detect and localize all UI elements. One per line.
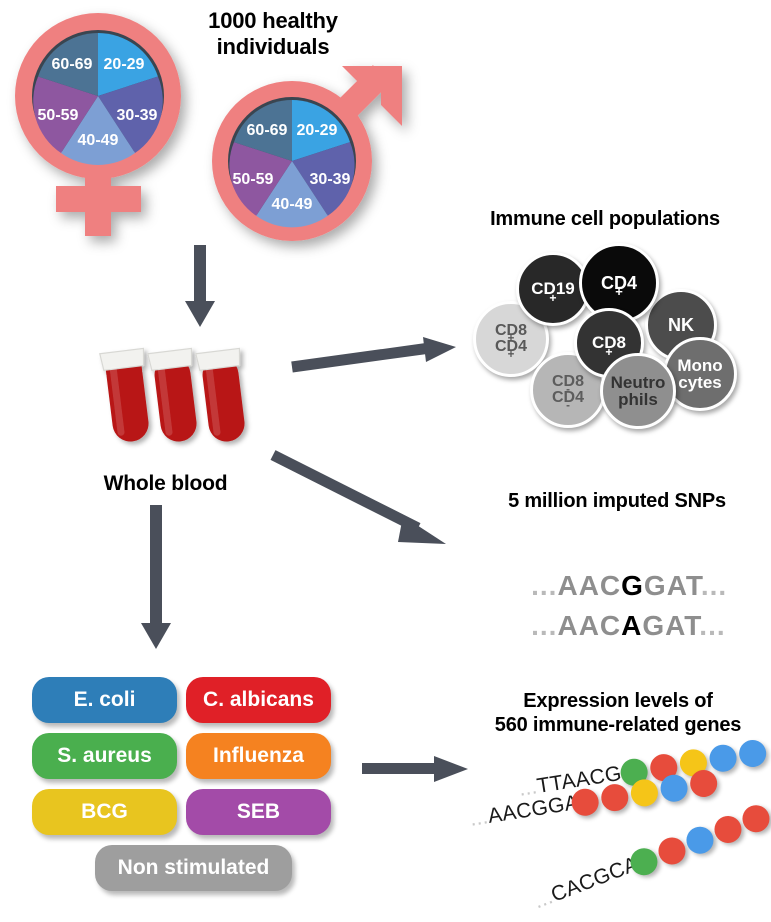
whole-blood-label: Whole blood	[78, 472, 253, 497]
blood-tubes	[95, 335, 265, 460]
snp-prefix: ...	[531, 610, 557, 641]
gene-bead	[710, 812, 745, 847]
stimulation-pill-label: C. albicans	[203, 688, 314, 712]
immune-cell-label-line2: CD4+	[495, 339, 527, 355]
gene-bead	[682, 822, 717, 857]
immune-cell-label: NK	[668, 316, 694, 334]
male-slice-label-30-39: 30-39	[310, 171, 351, 188]
gene-bead	[659, 772, 690, 803]
immune-cell-label-line2: phils	[611, 391, 666, 408]
stimulation-pill-label: S. aureus	[57, 744, 152, 768]
arrow-blood-to-stimulation	[135, 505, 177, 650]
snp-suffix: ...	[699, 610, 725, 641]
stimulation-pill-non-stimulated[interactable]: Non stimulated	[95, 845, 292, 891]
stimulation-pill-c-albicans[interactable]: C. albicans	[186, 677, 331, 723]
male-slice-label-60-69: 60-69	[247, 122, 288, 139]
arrow-cohort-to-blood	[180, 245, 220, 330]
immune-cell-label: CD8+	[592, 334, 626, 351]
arrow-stimulation-to-expression	[362, 755, 472, 785]
male-slice-label-20-29: 20-29	[297, 122, 338, 139]
gene-bead	[688, 768, 719, 799]
stimulation-pill-label: E. coli	[74, 688, 136, 712]
immune-cell-label-line2: cytes	[677, 374, 722, 391]
cohort-heading-line1: 1000 healthy	[178, 8, 368, 34]
snp-before: AAC	[557, 610, 621, 641]
figure-canvas: 1000 healthy individuals	[0, 0, 771, 922]
stimulation-pill-label: BCG	[81, 800, 128, 824]
blood-tube-3	[196, 348, 251, 444]
stimulation-pill-label: SEB	[237, 800, 280, 824]
immune-cell-label: CD4+	[601, 274, 637, 292]
immune-heading: Immune cell populations	[450, 208, 760, 232]
immune-cell-nk: NK	[645, 289, 717, 361]
expression-heading: Expression levels of 560 immune-related …	[468, 690, 768, 737]
snp-after: GAT	[642, 610, 699, 641]
expression-heading-line2: 560 immune-related genes	[468, 714, 768, 738]
immune-cell-cd4pos: CD4+	[579, 243, 659, 323]
female-slice-label-40-49: 40-49	[78, 132, 119, 149]
expression-heading-line1: Expression levels of	[468, 690, 768, 714]
snp-sequence-row-2: ...AACAGAT...	[496, 578, 726, 674]
blood-tube-1	[100, 348, 155, 444]
immune-cell-cd19pos: CD19+	[516, 252, 590, 326]
gene-bead	[737, 738, 768, 769]
gene-bead	[738, 801, 771, 836]
immune-cell-label: CD19+	[531, 280, 574, 297]
cohort-heading: 1000 healthy individuals	[178, 8, 368, 60]
gene-bead	[629, 777, 660, 808]
arrow-blood-to-snps	[270, 450, 465, 555]
cohort-heading-line2: individuals	[178, 34, 368, 60]
gene-bead	[654, 833, 689, 868]
male-slice-label-50-59: 50-59	[233, 171, 274, 188]
immune-cell-label-line1: Neutro	[611, 374, 666, 391]
stimulation-pill-bcg[interactable]: BCG	[32, 789, 177, 835]
female-slice-label-30-39: 30-39	[117, 107, 158, 124]
arrow-blood-to-immune	[290, 335, 465, 380]
blood-tube-2	[148, 348, 203, 444]
immune-cell-label-line1: Mono	[677, 357, 722, 374]
female-symbol: 20-29 30-39 40-49 50-59 60-69	[4, 8, 204, 248]
immune-cell-neutrophils: Neutro phils	[600, 353, 676, 429]
immune-cell-label-line1: CD8-	[552, 374, 584, 390]
female-slice-label-60-69: 60-69	[52, 56, 93, 73]
stimulation-pill-seb[interactable]: SEB	[186, 789, 331, 835]
female-slice-label-20-29: 20-29	[104, 56, 145, 73]
stimulation-pill-label: Influenza	[213, 744, 304, 768]
immune-cell-cd8neg-cd4neg: CD8- CD4-	[530, 352, 606, 428]
female-slice-label-50-59: 50-59	[38, 107, 79, 124]
stimulation-pill-label: Non stimulated	[118, 856, 270, 880]
stimulation-pill-s-aureus[interactable]: S. aureus	[32, 733, 177, 779]
immune-cell-label-line2: CD4-	[552, 390, 584, 406]
immune-cell-label-line1: CD8+	[495, 323, 527, 339]
immune-cell-cd8pos: CD8+	[574, 308, 644, 378]
male-slice-label-40-49: 40-49	[272, 196, 313, 213]
immune-cell-cd8pos-cd4pos: CD8+ CD4+	[473, 301, 549, 377]
immune-cell-monocytes: Mono cytes	[663, 337, 737, 411]
male-symbol: 20-29 30-39 40-49 50-59 60-69	[196, 60, 426, 260]
snp-variant-allele: A	[621, 610, 642, 641]
gene-bead	[599, 782, 630, 813]
snps-heading: 5 million imputed SNPs	[472, 490, 762, 514]
stimulation-pill-e-coli[interactable]: E. coli	[32, 677, 177, 723]
stimulation-pill-influenza[interactable]: Influenza	[186, 733, 331, 779]
